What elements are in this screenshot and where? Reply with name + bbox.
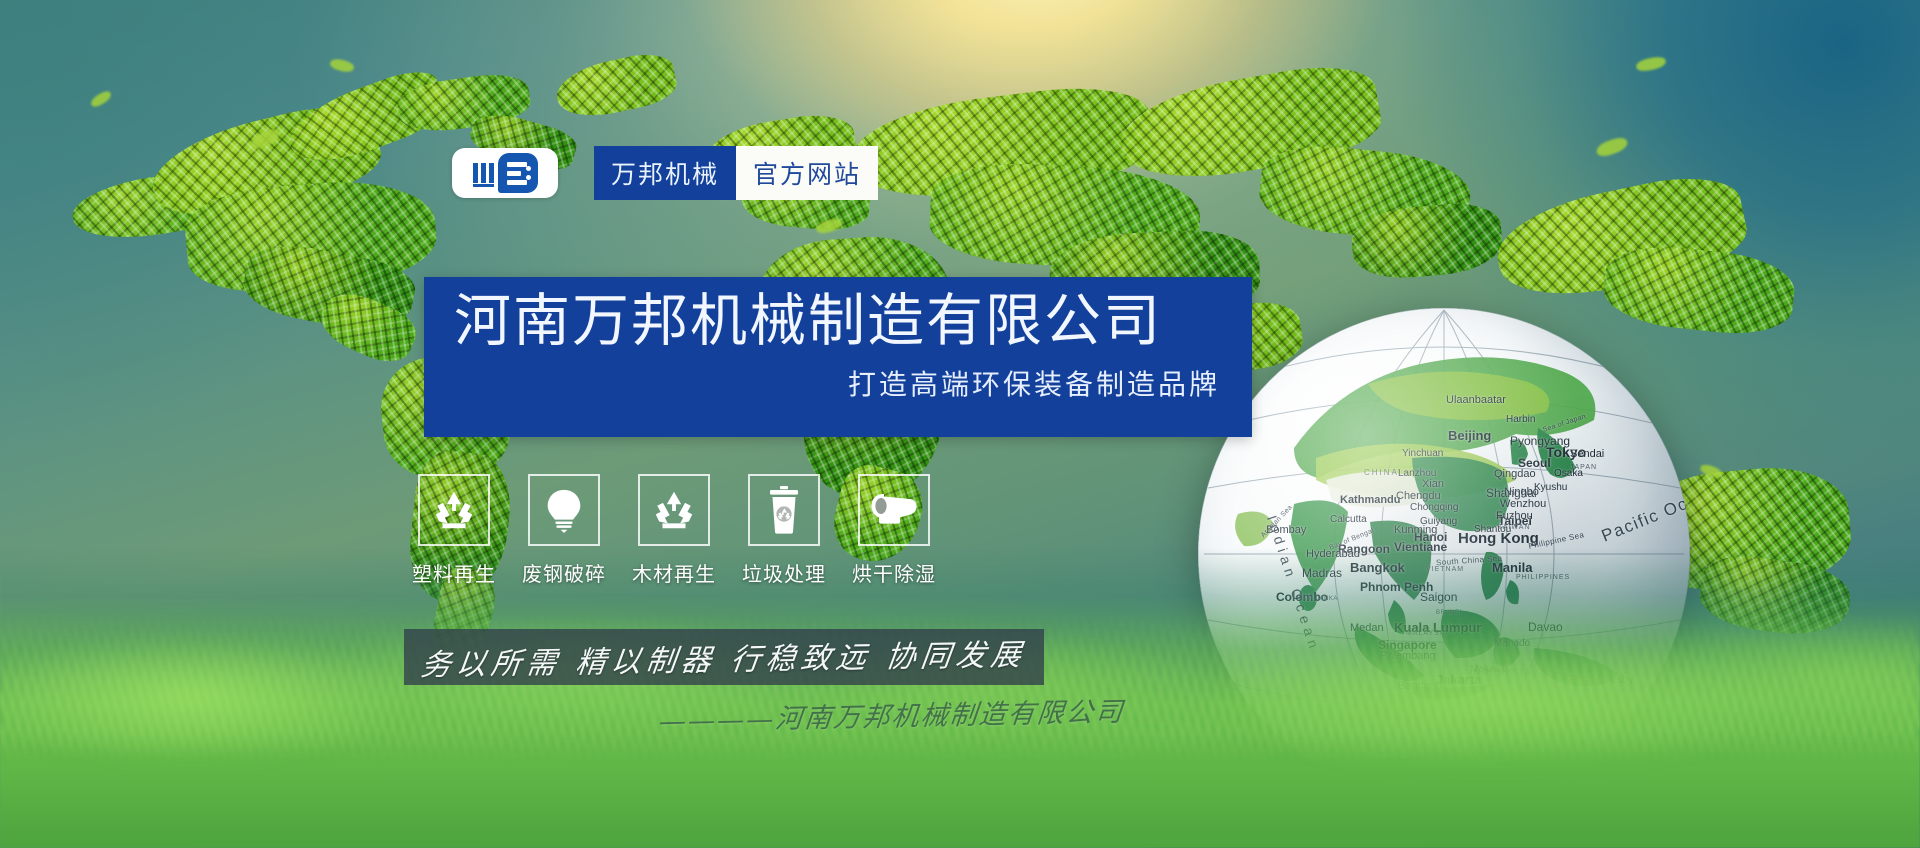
service-item-waste-treatment[interactable]: 垃圾处理 <box>748 474 820 587</box>
globe-label-city: Ulaanbaatar <box>1446 394 1506 406</box>
service-icon-frame <box>528 474 600 546</box>
service-label: 塑料再生 <box>412 558 496 587</box>
globe-label-city: Kyushu <box>1534 482 1567 493</box>
trash-bin-icon <box>766 486 802 534</box>
service-icon-row: 塑料再生 废钢破碎 <box>418 474 930 587</box>
globe-label-city: Chongqing <box>1410 502 1458 513</box>
hero-banner: BeijingTokyoSeoulPyongyangShanghaiHong K… <box>0 0 1920 848</box>
company-name: 河南万邦机械制造有限公司 <box>454 291 1224 353</box>
hero-title-banner: 河南万邦机械制造有限公司 打造高端环保装备制造品牌 <box>424 277 1252 437</box>
company-tagline: 打造高端环保装备制造品牌 <box>454 363 1224 403</box>
tab-official-website[interactable]: 官方网站 <box>736 146 878 200</box>
service-label: 木材再生 <box>632 558 716 587</box>
dryer-blower-icon <box>870 491 918 529</box>
globe-label-city: Fuzhou <box>1496 510 1533 522</box>
globe-label-city: Chengdu <box>1396 490 1441 502</box>
logo-b-mark <box>498 153 538 193</box>
logo-w-mark <box>473 163 494 184</box>
globe-label-country: JAPAN <box>1570 464 1597 471</box>
service-item-wood-recycling[interactable]: 木材再生 <box>638 474 710 587</box>
globe-label-country: TAIWAN <box>1498 524 1530 531</box>
globe-label-city: Yinchuan <box>1402 448 1443 459</box>
service-item-plastic-recycling[interactable]: 塑料再生 <box>418 474 490 587</box>
site-header: 万邦机械 官方网站 <box>452 146 878 200</box>
service-item-scrap-steel-crushing[interactable]: 废钢破碎 <box>528 474 600 587</box>
service-icon-frame <box>858 474 930 546</box>
nav-tabs: 万邦机械 官方网站 <box>594 146 878 200</box>
service-label: 烘干除湿 <box>852 558 936 587</box>
globe-label-city: Kunming <box>1394 524 1437 536</box>
recycle-icon <box>651 487 697 533</box>
globe-label-city: Xian <box>1422 478 1444 490</box>
globe-label-city: Calcutta <box>1330 514 1367 525</box>
service-icon-frame <box>638 474 710 546</box>
slogan-band: 务以所需 精以制器 行稳致远 协同发展 <box>404 629 1044 685</box>
service-icon-frame <box>418 474 490 546</box>
service-label: 废钢破碎 <box>522 558 606 587</box>
service-label: 垃圾处理 <box>742 558 826 587</box>
service-icon-frame <box>748 474 820 546</box>
slogan-text: 务以所需 精以制器 行稳致远 协同发展 <box>419 630 1029 685</box>
globe-label-city: Qingdao <box>1494 468 1536 480</box>
service-item-drying-dehumidification[interactable]: 烘干除湿 <box>858 474 930 587</box>
globe-label-country: CHINA <box>1364 468 1399 477</box>
globe-label-city: Wenzhou <box>1500 498 1546 510</box>
lightbulb-icon <box>542 487 586 533</box>
globe-label-city: Sendai <box>1570 448 1604 460</box>
globe-label-city: Harbin <box>1506 414 1535 425</box>
globe-label-city: Beijing <box>1448 428 1491 443</box>
recycle-icon <box>431 487 477 533</box>
globe-label-city: Kathmandu <box>1340 494 1401 506</box>
wb-logo[interactable] <box>452 148 558 198</box>
globe-label-city: Pyongyang <box>1510 434 1570 448</box>
tab-wanbang-machinery[interactable]: 万邦机械 <box>594 146 736 200</box>
